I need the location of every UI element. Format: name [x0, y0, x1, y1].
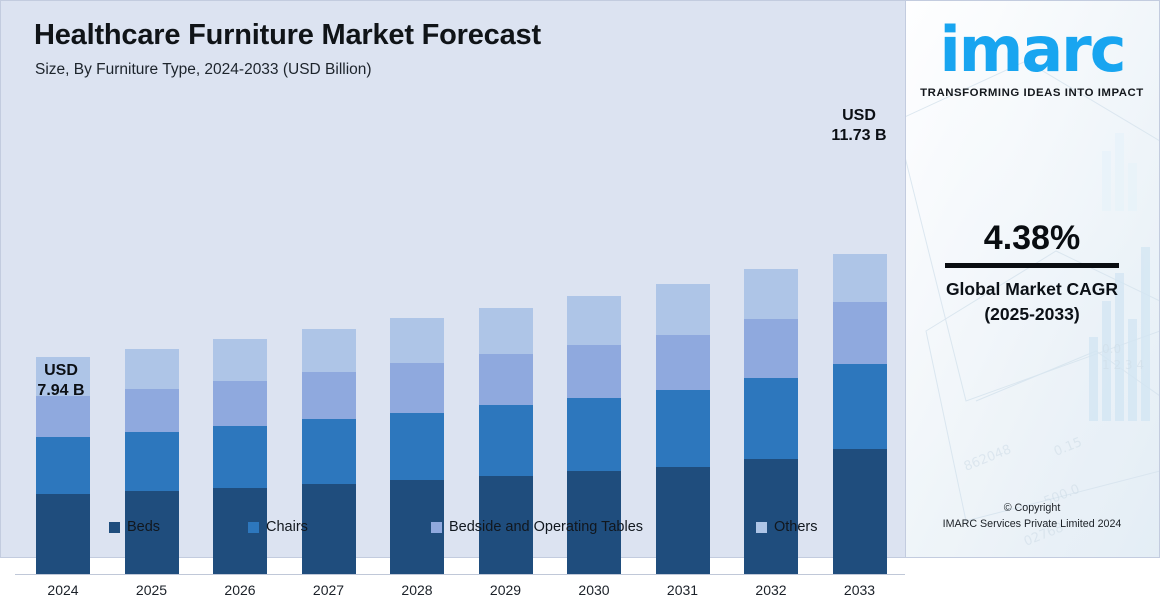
segment-bedside-and-operating-tables-2033: [833, 302, 887, 364]
x-axis-label-2033: 2033: [820, 582, 900, 598]
cagr-label-line1: Global Market CAGR: [906, 279, 1158, 300]
segment-bedside-and-operating-tables-2028: [390, 363, 444, 412]
copyright-line2: IMARC Services Private Limited 2024: [906, 517, 1158, 533]
legend-swatch-icon: [109, 522, 120, 533]
callout-first-line2: 7.94 B: [6, 381, 116, 401]
page-title: Healthcare Furniture Market Forecast: [34, 19, 541, 52]
segment-bedside-and-operating-tables-2032: [744, 319, 798, 377]
segment-others-2026: [213, 339, 267, 380]
legend-label: Chairs: [266, 519, 308, 535]
x-axis-label-2026: 2026: [200, 582, 280, 598]
legend-label: Bedside and Operating Tables: [449, 519, 643, 535]
brand-panel: 500.0 0.15 862048 02768 1 2 3 4 0.0 imar…: [906, 0, 1160, 558]
segment-chairs-2026: [213, 426, 267, 488]
segment-others-2031: [656, 284, 710, 335]
x-axis-label-2029: 2029: [466, 582, 546, 598]
legend-swatch-icon: [431, 522, 442, 533]
legend-swatch-icon: [248, 522, 259, 533]
x-axis-label-2031: 2031: [643, 582, 723, 598]
svg-text:1 2 3 4: 1 2 3 4: [1102, 358, 1144, 372]
segment-chairs-2033: [833, 364, 887, 449]
infographic-root: Healthcare Furniture Market Forecast Siz…: [0, 0, 1160, 558]
segment-chairs-2031: [656, 390, 710, 467]
imarc-logo: imarc TRANSFORMING IDEAS INTO IMPACT: [906, 19, 1158, 99]
cagr-value: 4.38%: [906, 219, 1158, 258]
plot-area: 2024202520262027202820292030203120322033…: [1, 97, 905, 479]
segment-others-2032: [744, 269, 798, 319]
segment-others-2029: [479, 308, 533, 355]
segment-bedside-and-operating-tables-2024: [36, 396, 90, 437]
svg-text:0.0: 0.0: [1102, 342, 1121, 356]
imarc-logo-text: imarc: [906, 19, 1158, 81]
callout-first: USD 7.94 B: [6, 361, 116, 400]
segment-beds-2032: [744, 459, 798, 574]
segment-others-2033: [833, 254, 887, 302]
legend-item-others[interactable]: Others: [756, 519, 818, 535]
segment-chairs-2032: [744, 378, 798, 459]
segment-others-2025: [125, 349, 179, 389]
callout-last-line1: USD: [804, 106, 914, 126]
segment-chairs-2028: [390, 413, 444, 480]
legend-label: Others: [774, 519, 818, 535]
x-axis-label-2032: 2032: [731, 582, 811, 598]
segment-bedside-and-operating-tables-2025: [125, 389, 179, 432]
segment-beds-2033: [833, 449, 887, 574]
x-axis-label-2025: 2025: [112, 582, 192, 598]
chart-legend: BedsChairsBedside and Operating TablesOt…: [1, 519, 905, 545]
legend-label: Beds: [127, 519, 160, 535]
segment-chairs-2024: [36, 437, 90, 494]
segment-others-2030: [567, 296, 621, 345]
callout-first-line1: USD: [6, 361, 116, 381]
axis-baseline: [15, 574, 905, 575]
segment-bedside-and-operating-tables-2026: [213, 381, 267, 426]
callout-last-line2: 11.73 B: [804, 126, 914, 146]
segment-bedside-and-operating-tables-2031: [656, 335, 710, 391]
legend-item-chairs[interactable]: Chairs: [248, 519, 308, 535]
x-axis-label-2024: 2024: [23, 582, 103, 598]
imarc-tagline: TRANSFORMING IDEAS INTO IMPACT: [906, 87, 1158, 99]
segment-others-2027: [302, 329, 356, 372]
segment-others-2028: [390, 318, 444, 363]
segment-bedside-and-operating-tables-2029: [479, 354, 533, 405]
x-axis-label-2027: 2027: [289, 582, 369, 598]
copyright-notice: © Copyright IMARC Services Private Limit…: [906, 501, 1158, 532]
legend-item-beds[interactable]: Beds: [109, 519, 160, 535]
cagr-divider: [945, 263, 1119, 268]
page-subtitle: Size, By Furniture Type, 2024-2033 (USD …: [35, 61, 372, 79]
segment-bedside-and-operating-tables-2027: [302, 372, 356, 419]
segment-chairs-2029: [479, 405, 533, 475]
legend-item-bedside-and-operating-tables[interactable]: Bedside and Operating Tables: [431, 519, 643, 535]
segment-chairs-2027: [302, 419, 356, 484]
cagr-label-line2: (2025-2033): [906, 304, 1158, 325]
chart-panel: Healthcare Furniture Market Forecast Siz…: [0, 0, 906, 558]
callout-last: USD 11.73 B: [804, 106, 914, 145]
copyright-line1: © Copyright: [906, 501, 1158, 517]
x-axis-label-2030: 2030: [554, 582, 634, 598]
segment-chairs-2025: [125, 432, 179, 491]
legend-swatch-icon: [756, 522, 767, 533]
x-axis-label-2028: 2028: [377, 582, 457, 598]
segment-chairs-2030: [567, 398, 621, 471]
segment-bedside-and-operating-tables-2030: [567, 345, 621, 398]
